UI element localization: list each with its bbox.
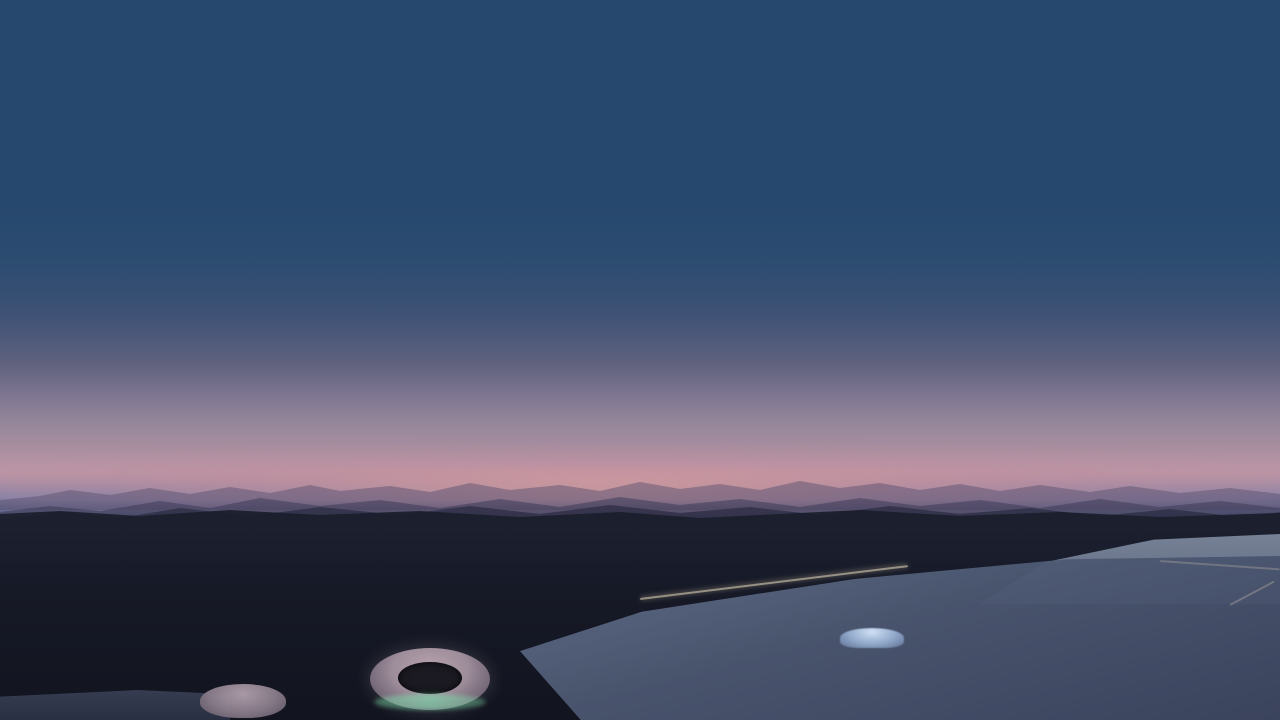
slide-canvas <box>0 0 1280 720</box>
slide-content <box>0 0 1280 720</box>
right-text-column <box>668 188 1180 201</box>
